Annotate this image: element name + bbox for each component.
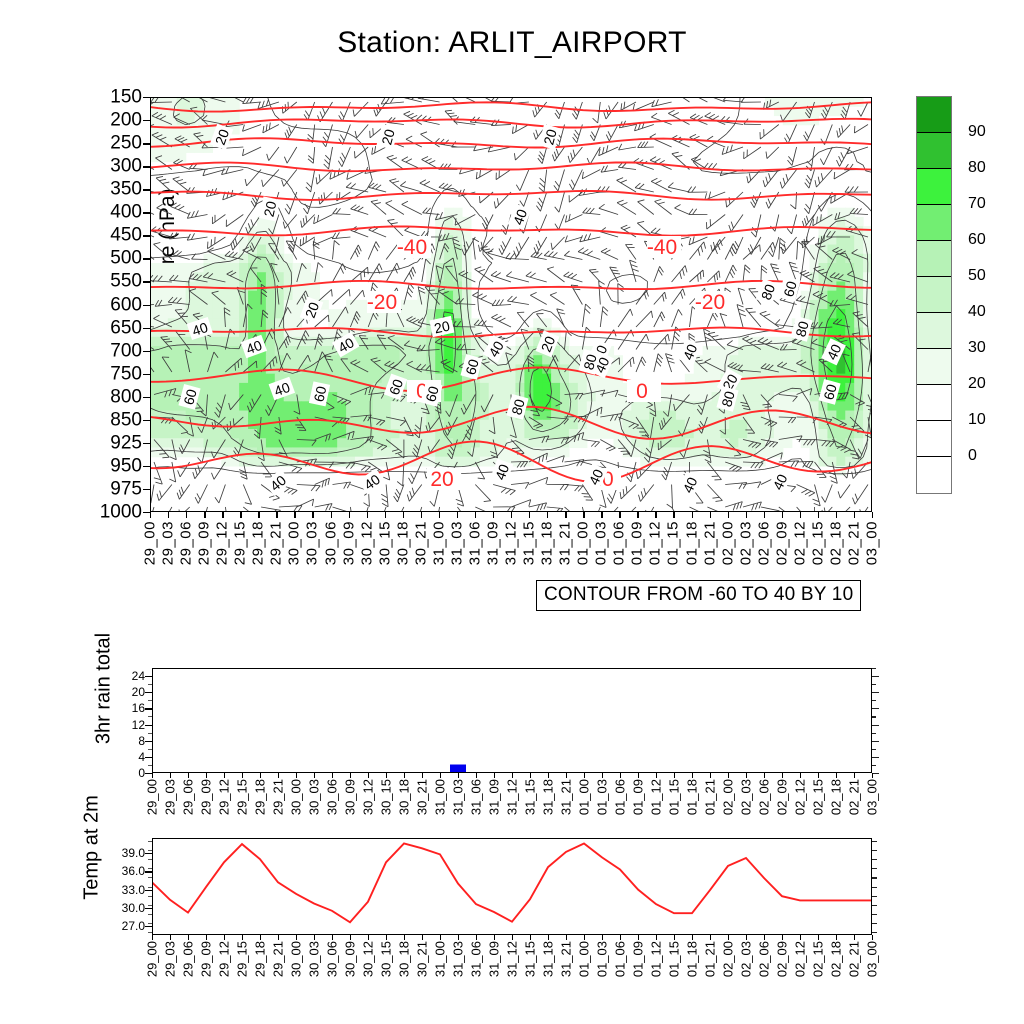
rain-time-tick-mark (800, 773, 801, 778)
rain-time-tick-label: 01_06 (614, 779, 627, 815)
rain-time-tick-mark (854, 773, 855, 778)
rain-time-tick-mark (746, 773, 747, 778)
time-tick-label: 01_00 (576, 521, 591, 565)
time-tick-mark (493, 512, 494, 518)
rain-time-tick-mark (566, 773, 567, 778)
temp-time-tick-label: 02_03 (740, 941, 753, 977)
rain-time-tick-mark (872, 773, 873, 778)
rain-minor-tick (148, 733, 152, 734)
temp-time-tick-label: 01_09 (632, 941, 645, 977)
rain-time-tick-label: 31_21 (560, 779, 573, 815)
colorbar-tick-label: 20 (968, 375, 986, 393)
rain-time-tick-label: 02_12 (794, 779, 807, 815)
pressure-tick-mark (143, 443, 150, 444)
temp-time-tick-label: 31_06 (470, 941, 483, 977)
rain-time-tick-label: 01_15 (668, 779, 681, 815)
rain-right-tick (872, 692, 879, 693)
rain-time-tick-mark (242, 773, 243, 778)
rain-right-tick (872, 749, 876, 750)
temp-minor-tick (148, 868, 152, 869)
time-tick-mark (746, 512, 747, 518)
rain-time-tick-label: 30_09 (344, 779, 357, 815)
rain-time-tick-label: 02_09 (776, 779, 789, 815)
pressure-tick-label: 300 (110, 157, 142, 176)
temp-minor-tick (148, 841, 152, 842)
temp-time-tick-label: 02_06 (758, 941, 771, 977)
temp-axis-label: Temp at 2m (81, 748, 104, 948)
rain-time-tick-mark (548, 773, 549, 778)
rain-time-tick-label: 29_03 (164, 779, 177, 815)
rain-time-tick-label: 01_03 (596, 779, 609, 815)
contour-range-note: CONTOUR FROM -60 TO 40 BY 10 (536, 580, 861, 611)
rain-time-tick-mark (170, 773, 171, 778)
time-tick-label: 02_00 (720, 521, 735, 565)
time-tick-label: 29_12 (215, 521, 230, 565)
temp-time-tick-mark (872, 935, 873, 940)
temp-right-tick (872, 932, 877, 933)
temp-right-tick (872, 859, 877, 860)
temp-time-tick-mark (188, 935, 189, 940)
temp-time-tick-mark (152, 935, 153, 940)
rain-time-tick-mark (224, 773, 225, 778)
time-tick-mark (565, 512, 566, 518)
pressure-tick-label: 350 (110, 180, 142, 199)
temp-tick-label: 27.0 (122, 920, 145, 932)
time-tick-mark (854, 512, 855, 518)
rain-time-tick-label: 31_15 (524, 779, 537, 815)
temp-tick-mark (145, 871, 152, 872)
time-tick-label: 02_15 (810, 521, 825, 565)
time-tick-mark (258, 512, 259, 518)
time-tick-mark (439, 512, 440, 518)
time-tick-label: 30_12 (359, 521, 374, 565)
pressure-tick-label: 550 (110, 272, 142, 291)
temp-right-tick (872, 896, 877, 897)
time-tick-label: 01_15 (666, 521, 681, 565)
rain-time-tick-label: 31_00 (434, 779, 447, 815)
time-tick-mark (529, 512, 530, 518)
pressure-tick-mark (143, 328, 150, 329)
time-tick-mark (276, 512, 277, 518)
colorbar-tick-label: 40 (968, 303, 986, 321)
temp-time-tick-label: 29_03 (164, 941, 177, 977)
time-tick-mark (186, 512, 187, 518)
temp-time-tick-label: 31_15 (524, 941, 537, 977)
temp-time-tick-mark (854, 935, 855, 940)
rain-time-tick-label: 29_06 (182, 779, 195, 815)
rain-time-tick-label: 30_18 (398, 779, 411, 815)
rain-time-tick-mark (332, 773, 333, 778)
temp-time-tick-label: 30_06 (326, 941, 339, 977)
temp-time-tick-mark (242, 935, 243, 940)
time-tick-label: 01_06 (612, 521, 627, 565)
temp-time-tick-label: 31_00 (434, 941, 447, 977)
temp-time-tick-mark (260, 935, 261, 940)
rain-time-tick-mark (818, 773, 819, 778)
rain-time-tick-label: 29_12 (218, 779, 231, 815)
pressure-tick-mark (143, 512, 150, 513)
time-tick-mark (836, 512, 837, 518)
temp-time-tick-mark (566, 935, 567, 940)
time-tick-mark (692, 512, 693, 518)
time-tick-mark (367, 512, 368, 518)
time-tick-label: 31_09 (485, 521, 500, 565)
rain-panel: 3hr rain total 0481216202429_0029_0329_0… (152, 668, 872, 773)
rain-time-tick-mark (638, 773, 639, 778)
time-tick-mark (421, 512, 422, 518)
temp-time-tick-label: 30_09 (344, 941, 357, 977)
pressure-tick-mark (143, 212, 150, 213)
pressure-tick-mark (143, 281, 150, 282)
temp-right-tick (872, 841, 877, 842)
temp-time-tick-mark (674, 935, 675, 940)
time-tick-label: 02_18 (828, 521, 843, 565)
temperature-panel: Temp at 2m 27.030.033.036.039.029_0029_0… (152, 838, 872, 935)
pressure-tick-label: 850 (110, 410, 142, 429)
time-tick-label: 29_06 (179, 521, 194, 565)
colorbar-tick-label: 10 (968, 411, 986, 429)
temp-time-tick-label: 01_21 (704, 941, 717, 977)
time-tick-label: 02_09 (774, 521, 789, 565)
rain-time-tick-label: 31_06 (470, 779, 483, 815)
colorbar-band (917, 457, 951, 493)
time-tick-mark (312, 512, 313, 518)
rain-time-tick-label: 31_12 (506, 779, 519, 815)
pressure-tick-label: 150 (110, 88, 142, 107)
temp-time-tick-mark (602, 935, 603, 940)
time-tick-label: 29_15 (233, 521, 248, 565)
rain-time-tick-label: 29_09 (200, 779, 213, 815)
pressure-tick-label: 400 (110, 203, 142, 222)
pressure-tick-mark (143, 235, 150, 236)
temp-time-tick-mark (782, 935, 783, 940)
temp-time-tick-label: 31_12 (506, 941, 519, 977)
time-tick-label: 29_00 (143, 521, 158, 565)
time-tick-mark (818, 512, 819, 518)
colorbar-tick-label: 70 (968, 195, 986, 213)
rain-time-tick-label: 02_15 (812, 779, 825, 815)
time-tick-label: 30_21 (413, 521, 428, 565)
time-tick-label: 29_21 (269, 521, 284, 565)
temp-time-tick-mark (710, 935, 711, 940)
temp-right-tick (872, 887, 877, 888)
time-tick-label: 01_09 (630, 521, 645, 565)
rain-time-tick-label: 02_00 (722, 779, 735, 815)
temp-right-tick (872, 850, 877, 851)
time-tick-label: 31_12 (504, 521, 519, 565)
temp-time-tick-label: 31_09 (488, 941, 501, 977)
colorbar-tick-label: 30 (968, 339, 986, 357)
temp-minor-tick (148, 877, 152, 878)
colorbar-tick-label: 90 (968, 123, 986, 141)
pressure-tick-mark (143, 166, 150, 167)
colorbar-band (917, 133, 951, 169)
temp-time-tick-mark (494, 935, 495, 940)
temp-time-tick-mark (458, 935, 459, 940)
temp-time-tick-mark (440, 935, 441, 940)
temp-time-tick-label: 02_12 (794, 941, 807, 977)
time-tick-mark (150, 512, 151, 518)
rain-right-tick (872, 741, 879, 742)
time-tick-label: 02_06 (756, 521, 771, 565)
colorbar-band (917, 421, 951, 457)
humidity-colorbar (916, 96, 952, 494)
time-tick-label: 31_15 (522, 521, 537, 565)
time-tick-mark (547, 512, 548, 518)
rain-right-tick (872, 676, 879, 677)
temp-minor-tick (148, 905, 152, 906)
rain-time-tick-mark (584, 773, 585, 778)
time-tick-mark (294, 512, 295, 518)
colorbar-band (917, 97, 951, 133)
pressure-tick-label: 1000 (100, 503, 142, 522)
time-tick-label: 30_03 (305, 521, 320, 565)
rain-time-tick-mark (782, 773, 783, 778)
rain-time-tick-mark (314, 773, 315, 778)
rain-time-tick-label: 30_06 (326, 779, 339, 815)
rain-time-tick-mark (296, 773, 297, 778)
pressure-tick-label: 750 (110, 364, 142, 383)
rain-time-tick-mark (386, 773, 387, 778)
rain-time-tick-label: 30_03 (308, 779, 321, 815)
pressure-tick-label: 700 (110, 341, 142, 360)
rain-tick-label: 20 (132, 686, 145, 698)
pressure-tick-mark (143, 120, 150, 121)
rain-time-tick-label: 29_00 (146, 779, 159, 815)
rain-time-tick-label: 02_18 (830, 779, 843, 815)
rain-time-tick-mark (404, 773, 405, 778)
rain-time-tick-label: 30_21 (416, 779, 429, 815)
pressure-tick-label: 650 (110, 318, 142, 337)
rain-right-tick (872, 708, 879, 709)
pressure-tick-mark (143, 258, 150, 259)
time-tick-mark (222, 512, 223, 518)
temp-tick-label: 36.0 (122, 865, 145, 877)
rain-time-tick-label: 03_00 (866, 779, 879, 815)
rain-time-tick-mark (278, 773, 279, 778)
rain-right-tick (872, 765, 876, 766)
pressure-tick-label: 800 (110, 387, 142, 406)
time-tick-mark (583, 512, 584, 518)
temp-right-tick (872, 868, 877, 869)
rain-time-tick-mark (422, 773, 423, 778)
temp-time-tick-label: 29_18 (254, 941, 267, 977)
time-tick-mark (475, 512, 476, 518)
temp-time-tick-mark (332, 935, 333, 940)
temp-time-tick-label: 30_15 (380, 941, 393, 977)
time-tick-mark (457, 512, 458, 518)
temp-time-tick-mark (764, 935, 765, 940)
time-tick-mark (601, 512, 602, 518)
time-tick-label: 30_15 (377, 521, 392, 565)
temp-tick-label: 30.0 (122, 902, 145, 914)
colorbar-tick-label: 60 (968, 231, 986, 249)
time-tick-label: 29_09 (197, 521, 212, 565)
pressure-tick-mark (143, 305, 150, 306)
pressure-tick-label: 975 (110, 479, 142, 498)
rain-time-tick-mark (206, 773, 207, 778)
rain-time-tick-label: 29_15 (236, 779, 249, 815)
temp-time-tick-label: 01_00 (578, 941, 591, 977)
rain-time-tick-mark (260, 773, 261, 778)
rain-right-tick (872, 716, 876, 717)
rain-time-tick-mark (710, 773, 711, 778)
temp-time-tick-mark (476, 935, 477, 940)
rain-time-tick-mark (656, 773, 657, 778)
temp-time-tick-mark (746, 935, 747, 940)
rain-time-tick-label: 01_21 (704, 779, 717, 815)
rain-tick-label: 24 (132, 670, 145, 682)
temp-time-tick-mark (386, 935, 387, 940)
temp-right-tick (872, 905, 877, 906)
temp-plot-frame (152, 838, 872, 935)
temp-time-tick-mark (278, 935, 279, 940)
temp-right-tick (872, 914, 877, 915)
time-tick-mark (331, 512, 332, 518)
rain-time-tick-mark (764, 773, 765, 778)
temp-time-tick-mark (314, 935, 315, 940)
temp-time-tick-mark (224, 935, 225, 940)
colorbar-band (917, 385, 951, 421)
temp-time-tick-label: 01_06 (614, 941, 627, 977)
rain-time-tick-mark (620, 773, 621, 778)
time-tick-label: 31_00 (431, 521, 446, 565)
rain-tick-mark (145, 757, 152, 758)
pressure-tick-label: 925 (110, 433, 142, 452)
temp-time-tick-label: 30_21 (416, 941, 429, 977)
time-tick-label: 02_21 (846, 521, 861, 565)
time-tick-label: 03_00 (865, 521, 880, 565)
temp-time-tick-label: 31_18 (542, 941, 555, 977)
time-tick-label: 01_21 (702, 521, 717, 565)
temp-time-tick-label: 30_00 (290, 941, 303, 977)
rain-tick-label: 16 (132, 702, 145, 714)
temp-minor-tick (148, 914, 152, 915)
rain-time-tick-label: 30_15 (380, 779, 393, 815)
rain-tick-mark (145, 692, 152, 693)
temp-tick-label: 39.0 (122, 847, 145, 859)
temp-right-tick (872, 923, 877, 924)
rain-right-tick (872, 733, 876, 734)
rain-time-tick-mark (350, 773, 351, 778)
temp-time-tick-label: 01_15 (668, 941, 681, 977)
rain-time-tick-label: 01_09 (632, 779, 645, 815)
pressure-tick-mark (143, 420, 150, 421)
time-tick-label: 30_18 (395, 521, 410, 565)
rain-tick-label: 4 (138, 751, 145, 763)
rain-time-tick-mark (674, 773, 675, 778)
time-tick-mark (385, 512, 386, 518)
colorbar-tick-label: 50 (968, 267, 986, 285)
temp-time-tick-mark (656, 935, 657, 940)
temp-time-tick-label: 29_15 (236, 941, 249, 977)
temp-time-tick-mark (800, 935, 801, 940)
rain-time-tick-label: 01_00 (578, 779, 591, 815)
rain-time-tick-mark (152, 773, 153, 778)
temp-time-tick-mark (728, 935, 729, 940)
temp-minor-tick (148, 923, 152, 924)
time-tick-mark (619, 512, 620, 518)
temp-time-tick-mark (368, 935, 369, 940)
temp-time-tick-label: 03_00 (866, 941, 879, 977)
temp-time-tick-mark (422, 935, 423, 940)
time-tick-label: 31_21 (558, 521, 573, 565)
time-tick-mark (403, 512, 404, 518)
rain-time-tick-label: 02_03 (740, 779, 753, 815)
temp-time-tick-mark (170, 935, 171, 940)
temp-time-tick-mark (638, 935, 639, 940)
rain-right-tick (872, 668, 876, 669)
time-tick-mark (673, 512, 674, 518)
rain-right-tick (872, 700, 876, 701)
pressure-tick-label: 250 (110, 134, 142, 153)
rain-minor-tick (148, 716, 152, 717)
rain-right-tick (872, 757, 879, 758)
rain-time-tick-mark (188, 773, 189, 778)
time-tick-mark (511, 512, 512, 518)
temp-time-tick-label: 31_21 (560, 941, 573, 977)
time-tick-mark (782, 512, 783, 518)
colorbar-band (917, 205, 951, 241)
rain-minor-tick (148, 700, 152, 701)
temp-time-tick-label: 02_09 (776, 941, 789, 977)
rain-time-tick-mark (440, 773, 441, 778)
rain-time-tick-mark (602, 773, 603, 778)
time-tick-mark (204, 512, 205, 518)
rain-time-tick-mark (692, 773, 693, 778)
temp-time-tick-mark (404, 935, 405, 940)
pressure-tick-mark (143, 374, 150, 375)
rain-time-tick-label: 30_12 (362, 779, 375, 815)
temp-time-tick-mark (836, 935, 837, 940)
pressure-tick-label: 500 (110, 249, 142, 268)
temp-time-tick-label: 02_18 (830, 941, 843, 977)
rain-right-tick (872, 684, 876, 685)
temp-right-tick (872, 877, 877, 878)
time-tick-label: 30_06 (323, 521, 338, 565)
temp-time-tick-label: 29_21 (272, 941, 285, 977)
temp-time-tick-mark (818, 935, 819, 940)
rain-time-tick-label: 29_18 (254, 779, 267, 815)
temp-time-tick-label: 02_15 (812, 941, 825, 977)
time-tick-label: 29_03 (161, 521, 176, 565)
time-tick-label: 01_18 (684, 521, 699, 565)
temp-time-tick-label: 29_06 (182, 941, 195, 977)
rain-time-tick-label: 02_21 (848, 779, 861, 815)
rain-tick-label: 12 (132, 719, 145, 731)
rain-tick-label: 0 (138, 767, 145, 779)
colorbar-band (917, 277, 951, 313)
temp-time-tick-label: 01_12 (650, 941, 663, 977)
pressure-tick-mark (143, 466, 150, 467)
pressure-tick-label: 600 (110, 295, 142, 314)
time-tick-mark (728, 512, 729, 518)
colorbar-band (917, 313, 951, 349)
rain-time-tick-label: 02_06 (758, 779, 771, 815)
pressure-tick-label: 200 (110, 111, 142, 130)
rain-time-tick-mark (836, 773, 837, 778)
time-tick-label: 31_06 (467, 521, 482, 565)
colorbar-tick-label: 80 (968, 159, 986, 177)
pressure-tick-mark (143, 351, 150, 352)
rain-time-tick-label: 30_00 (290, 779, 303, 815)
main-plot-frame (150, 97, 872, 512)
temp-minor-tick (148, 887, 152, 888)
temp-time-tick-label: 31_03 (452, 941, 465, 977)
rain-tick-mark (145, 741, 152, 742)
rain-minor-tick (148, 749, 152, 750)
temp-time-tick-label: 29_00 (146, 941, 159, 977)
